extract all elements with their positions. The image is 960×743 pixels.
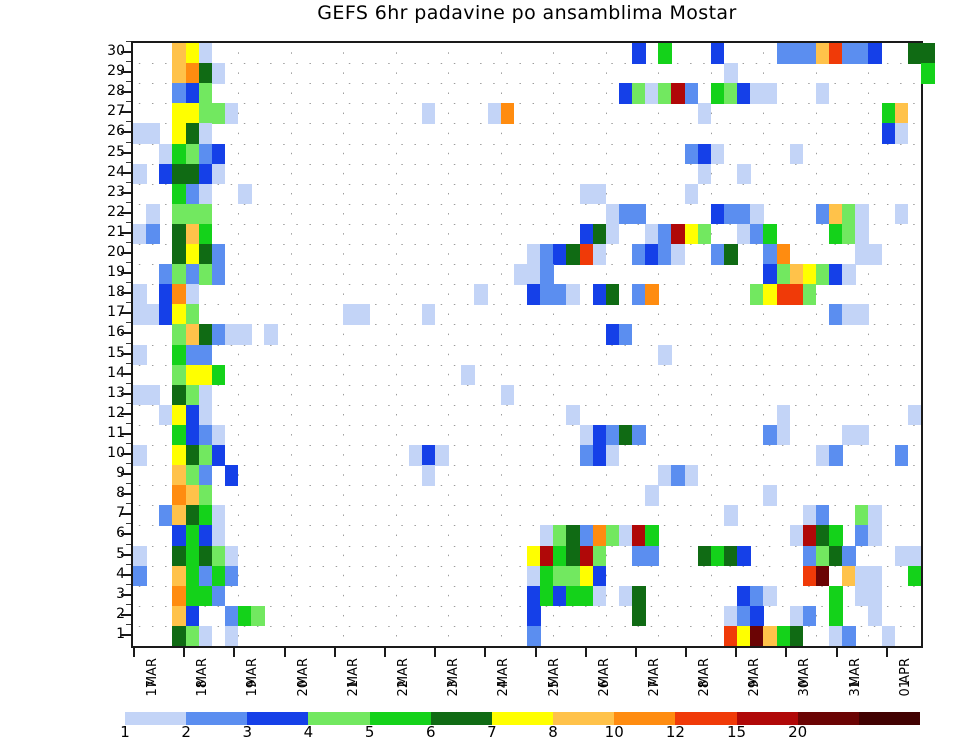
heatmap-cell — [737, 546, 751, 567]
heatmap-cell — [737, 224, 751, 245]
heatmap-cell — [186, 626, 200, 647]
heatmap-cell — [816, 264, 830, 285]
colorbar-tick-label: 2 — [181, 725, 191, 740]
heatmap-cell — [868, 43, 882, 64]
colorbar-tick-label: 3 — [243, 725, 253, 740]
heatmap-cell — [632, 204, 646, 225]
heatmap-cell — [172, 365, 186, 386]
heatmap-cell — [172, 103, 186, 124]
heatmap-cell — [842, 224, 856, 245]
colorbar-tick-label: 6 — [426, 725, 436, 740]
heatmap-cell — [645, 485, 659, 506]
heatmap-cell — [553, 244, 567, 265]
heatmap-cell — [186, 184, 200, 205]
x-axis-ticks — [131, 648, 923, 658]
heatmap-cell — [829, 204, 843, 225]
heatmap-cell — [658, 465, 672, 486]
heatmap-cell — [803, 284, 817, 305]
heatmap-cell — [803, 566, 817, 587]
heatmap-cell — [186, 485, 200, 506]
heatmap-cell — [671, 244, 685, 265]
heatmap-cell — [186, 525, 200, 546]
heatmap-cell — [816, 83, 830, 104]
heatmap-cell — [172, 566, 186, 587]
heatmap-cell — [658, 83, 672, 104]
heatmap-cell — [199, 385, 213, 406]
x-axis-tick-mark — [735, 648, 737, 657]
heatmap-cell — [593, 586, 607, 607]
heatmap-cell — [527, 606, 541, 627]
heatmap-cell — [409, 445, 423, 466]
heatmap-cell — [593, 425, 607, 446]
heatmap-cell — [199, 465, 213, 486]
heatmap-cell — [199, 244, 213, 265]
heatmap-cell — [186, 324, 200, 345]
heatmap-cell — [172, 586, 186, 607]
heatmap-cell — [829, 445, 843, 466]
heatmap-cell — [474, 284, 488, 305]
heatmap-cell — [908, 405, 922, 426]
heatmap-cell — [356, 304, 370, 325]
heatmap-cell — [921, 63, 935, 84]
heatmap-cell — [868, 505, 882, 526]
heatmap-cell — [225, 324, 239, 345]
heatmap-cell — [724, 606, 738, 627]
colorbar-tick-label: 7 — [487, 725, 497, 740]
heatmap-cell — [842, 304, 856, 325]
heatmap-cell — [842, 43, 856, 64]
heatmap-cell — [711, 83, 725, 104]
heatmap-cell — [763, 264, 777, 285]
heatmap-cell — [829, 626, 843, 647]
heatmap-cell — [186, 244, 200, 265]
heatmap-cell — [632, 244, 646, 265]
heatmap-cell — [212, 244, 226, 265]
heatmap-cell — [199, 83, 213, 104]
heatmap-cell — [186, 43, 200, 64]
heatmap-cell — [724, 546, 738, 567]
heatmap-cell — [750, 606, 764, 627]
heatmap-cell — [514, 264, 528, 285]
heatmap-cell — [855, 244, 869, 265]
heatmap-cell — [422, 465, 436, 486]
heatmap-cell — [540, 525, 554, 546]
heatmap-cell — [593, 284, 607, 305]
heatmap-cell — [540, 586, 554, 607]
heatmap-cell — [186, 566, 200, 587]
heatmap-cell — [172, 144, 186, 165]
heatmap-cell — [199, 164, 213, 185]
heatmap-cell — [186, 284, 200, 305]
heatmap-cell — [724, 626, 738, 647]
heatmap-cell — [199, 345, 213, 366]
colorbar-band[interactable] — [308, 712, 369, 725]
heatmap-cell — [737, 164, 751, 185]
heatmap-cell — [199, 324, 213, 345]
heatmap-cell — [461, 365, 475, 386]
heatmap-cell — [186, 224, 200, 245]
heatmap-cell — [750, 83, 764, 104]
heatmap-cell — [172, 626, 186, 647]
colorbar-band[interactable] — [492, 712, 553, 725]
heatmap-cell — [133, 164, 147, 185]
heatmap-cell — [212, 144, 226, 165]
heatmap-cell — [527, 264, 541, 285]
heatmap-cell — [829, 525, 843, 546]
heatmap-cell — [855, 425, 869, 446]
heatmap-cell — [855, 525, 869, 546]
heatmap-cell — [186, 204, 200, 225]
heatmap-cell — [212, 63, 226, 84]
colorbar-band[interactable] — [859, 712, 920, 725]
heatmap-cell — [803, 546, 817, 567]
heatmap-cell — [225, 465, 239, 486]
heatmap-cell — [685, 83, 699, 104]
heatmap-cell — [842, 566, 856, 587]
heatmap-cell — [868, 525, 882, 546]
colorbar-tick-label: 5 — [365, 725, 375, 740]
heatmap-cell — [816, 546, 830, 567]
heatmap-cell — [172, 345, 186, 366]
colorbar-band[interactable] — [431, 712, 492, 725]
heatmap-cell — [199, 365, 213, 386]
heatmap-cell — [540, 264, 554, 285]
heatmap-cell — [632, 586, 646, 607]
x-axis-tick-mark — [384, 648, 386, 657]
heatmap-cell — [172, 244, 186, 265]
heatmap-cell — [619, 525, 633, 546]
heatmap-cell — [251, 606, 265, 627]
heatmap-cell — [724, 63, 738, 84]
heatmap-cell — [711, 144, 725, 165]
heatmap-cell — [566, 546, 580, 567]
heatmap-cell — [895, 123, 909, 144]
heatmap-plot-area[interactable] — [131, 41, 923, 648]
heatmap-cell — [750, 586, 764, 607]
x-axis-tick-mark — [183, 648, 185, 657]
heatmap-cell — [645, 244, 659, 265]
heatmap-cell — [777, 425, 791, 446]
heatmap-cell — [711, 546, 725, 567]
heatmap-cell — [803, 525, 817, 546]
heatmap-cell — [159, 164, 173, 185]
heatmap-cell — [645, 525, 659, 546]
heatmap-cell — [212, 445, 226, 466]
heatmap-cell — [566, 405, 580, 426]
heatmap-cell — [750, 224, 764, 245]
heatmap-cell — [159, 144, 173, 165]
heatmap-cell — [133, 304, 147, 325]
heatmap-cell — [212, 103, 226, 124]
heatmap-cell — [172, 264, 186, 285]
heatmap-cell — [199, 43, 213, 64]
heatmap-cell — [553, 546, 567, 567]
heatmap-cell — [172, 606, 186, 627]
heatmap-cell — [422, 103, 436, 124]
heatmap-cell — [199, 224, 213, 245]
heatmap-cell — [750, 626, 764, 647]
heatmap-cell — [790, 606, 804, 627]
heatmap-cell — [606, 204, 620, 225]
heatmap-cell — [501, 103, 515, 124]
heatmap-cell — [763, 626, 777, 647]
heatmap-cell — [685, 224, 699, 245]
colorbar-band[interactable] — [186, 712, 247, 725]
heatmap-cell — [540, 244, 554, 265]
heatmap-cell — [685, 184, 699, 205]
heatmap-cell — [527, 626, 541, 647]
heatmap-cell — [238, 324, 252, 345]
heatmap-cell — [146, 385, 160, 406]
heatmap-cell — [172, 465, 186, 486]
heatmap-cell — [777, 626, 791, 647]
heatmap-cell — [816, 505, 830, 526]
heatmap-cell — [133, 385, 147, 406]
heatmap-cell — [882, 103, 896, 124]
x-axis-tick-mark — [785, 648, 787, 657]
heatmap-cell — [724, 204, 738, 225]
heatmap-cell — [172, 284, 186, 305]
heatmap-cell — [212, 264, 226, 285]
heatmap-cell — [172, 505, 186, 526]
heatmap-cell — [159, 304, 173, 325]
x-axis-tick-mark — [233, 648, 235, 657]
heatmap-cell — [553, 284, 567, 305]
heatmap-cell — [868, 244, 882, 265]
heatmap-cell — [777, 264, 791, 285]
heatmap-cell — [829, 546, 843, 567]
heatmap-cell — [593, 566, 607, 587]
heatmap-cell — [527, 586, 541, 607]
heatmap-cell — [580, 525, 594, 546]
heatmap-cell — [855, 224, 869, 245]
x-axis-tick-mark — [886, 648, 888, 657]
colorbar-band[interactable] — [370, 712, 431, 725]
heatmap-cell — [882, 626, 896, 647]
heatmap-cell — [199, 445, 213, 466]
heatmap-cell — [606, 284, 620, 305]
colorbar-tick-label: 1 — [120, 725, 130, 740]
heatmap-cell — [435, 445, 449, 466]
colorbar-tick-label: 12 — [666, 725, 685, 740]
heatmap-cell — [527, 284, 541, 305]
heatmap-cell — [842, 546, 856, 567]
colorbar-band[interactable] — [125, 712, 186, 725]
heatmap-cell — [698, 144, 712, 165]
heatmap-cell — [737, 586, 751, 607]
heatmap-cell — [698, 224, 712, 245]
heatmap-cell — [566, 525, 580, 546]
heatmap-cell — [225, 606, 239, 627]
x-axis-tick-mark — [334, 648, 336, 657]
heatmap-cell — [921, 43, 935, 64]
heatmap-cell — [645, 284, 659, 305]
heatmap-cell — [199, 264, 213, 285]
heatmap-cell — [868, 566, 882, 587]
heatmap-cell — [593, 224, 607, 245]
heatmap-cell — [172, 546, 186, 567]
heatmap-cell — [172, 43, 186, 64]
heatmap-cell — [580, 224, 594, 245]
heatmap-cell — [763, 284, 777, 305]
heatmap-cell — [737, 606, 751, 627]
heatmap-cell — [146, 123, 160, 144]
heatmap-cell — [750, 204, 764, 225]
heatmap-cell — [882, 123, 896, 144]
x-axis-tick-mark — [434, 648, 436, 657]
heatmap-cell — [777, 244, 791, 265]
heatmap-cell — [855, 304, 869, 325]
heatmap-cell — [803, 505, 817, 526]
heatmap-cell — [186, 586, 200, 607]
heatmap-cell — [186, 304, 200, 325]
heatmap-cell — [790, 626, 804, 647]
heatmap-cell — [658, 224, 672, 245]
heatmap-cell — [908, 43, 922, 64]
heatmap-cell — [199, 204, 213, 225]
heatmap-cell — [186, 606, 200, 627]
heatmap-cell — [855, 586, 869, 607]
heatmap-cell — [671, 83, 685, 104]
heatmap-cell — [632, 83, 646, 104]
heatmap-cell — [763, 425, 777, 446]
colorbar-tick-label: 10 — [605, 725, 624, 740]
heatmap-cell — [763, 586, 777, 607]
heatmap-cell — [855, 505, 869, 526]
heatmap-cell — [868, 586, 882, 607]
heatmap-cell — [632, 606, 646, 627]
heatmap-cell — [212, 586, 226, 607]
heatmap-cell — [737, 626, 751, 647]
heatmap-cell — [199, 485, 213, 506]
colorbar-tick-label: 15 — [727, 725, 746, 740]
heatmap-cell — [186, 445, 200, 466]
heatmap-cell — [619, 586, 633, 607]
heatmap-cell — [842, 204, 856, 225]
heatmap-cell — [816, 445, 830, 466]
heatmap-cell — [566, 244, 580, 265]
page-title: GEFS 6hr padavine po ansamblima Mostar — [131, 2, 923, 24]
colorbar-tick-label: 8 — [548, 725, 558, 740]
heatmap-cell — [540, 546, 554, 567]
heatmap-cell — [908, 566, 922, 587]
heatmap-cell — [698, 103, 712, 124]
colorbar-band[interactable] — [247, 712, 308, 725]
heatmap-cell — [527, 244, 541, 265]
heatmap-cell — [212, 164, 226, 185]
heatmap-cell — [724, 505, 738, 526]
heatmap-cell — [225, 103, 239, 124]
heatmap-cell — [186, 63, 200, 84]
heatmap-cell — [540, 566, 554, 587]
heatmap-cell — [199, 144, 213, 165]
heatmap-cell — [803, 43, 817, 64]
heatmap-cell — [212, 566, 226, 587]
heatmap-cell — [186, 144, 200, 165]
heatmap-cell — [763, 244, 777, 265]
heatmap-cell — [212, 324, 226, 345]
heatmap-cell — [199, 103, 213, 124]
heatmap-cell — [816, 525, 830, 546]
heatmap-cell — [343, 304, 357, 325]
heatmap-cell — [711, 244, 725, 265]
heatmap-cell — [133, 284, 147, 305]
heatmap-cell — [895, 204, 909, 225]
heatmap-cell — [172, 525, 186, 546]
heatmap-cell — [146, 204, 160, 225]
heatmap-cell — [580, 184, 594, 205]
heatmap-cell — [855, 43, 869, 64]
heatmap-cell — [172, 204, 186, 225]
heatmap-cell — [645, 83, 659, 104]
heatmap-cell — [816, 566, 830, 587]
heatmap-cell — [133, 345, 147, 366]
heatmap-cell — [606, 324, 620, 345]
heatmap-cell — [593, 244, 607, 265]
heatmap-cell — [842, 264, 856, 285]
heatmap-cell — [777, 284, 791, 305]
heatmap-cell — [593, 184, 607, 205]
heatmap-cell — [133, 566, 147, 587]
heatmap-cell — [186, 365, 200, 386]
heatmap-cell — [671, 224, 685, 245]
heatmap-cell — [711, 43, 725, 64]
heatmap-cell — [724, 244, 738, 265]
heatmap-cell — [908, 546, 922, 567]
heatmap-cell — [186, 264, 200, 285]
heatmap-cell — [724, 83, 738, 104]
heatmap-cell — [172, 485, 186, 506]
heatmap-cell — [842, 425, 856, 446]
heatmap-cell — [816, 204, 830, 225]
heatmap-cell — [790, 284, 804, 305]
heatmap-cell — [619, 425, 633, 446]
heatmap-cell — [146, 224, 160, 245]
heatmap-cell — [895, 546, 909, 567]
heatmap-cell — [199, 505, 213, 526]
heatmap-cell — [658, 244, 672, 265]
heatmap-cell — [225, 546, 239, 567]
heatmap-cell — [186, 465, 200, 486]
heatmap-cell — [133, 224, 147, 245]
heatmap-cell — [698, 546, 712, 567]
heatmap-cell — [186, 164, 200, 185]
heatmap-cell — [580, 566, 594, 587]
x-axis-tick-mark — [585, 648, 587, 657]
x-axis-tick-mark — [635, 648, 637, 657]
heatmap-cell — [172, 123, 186, 144]
heatmap-cell — [606, 425, 620, 446]
heatmap-cell — [803, 606, 817, 627]
heatmap-cell — [199, 546, 213, 567]
heatmap-cell — [146, 304, 160, 325]
heatmap-cell — [212, 505, 226, 526]
heatmap-cell — [540, 284, 554, 305]
heatmap-cell — [186, 505, 200, 526]
heatmap-cell — [186, 103, 200, 124]
colorbar-tick-label: 4 — [304, 725, 314, 740]
heatmap-cells — [133, 43, 921, 646]
heatmap-cell — [225, 626, 239, 647]
heatmap-cell — [632, 546, 646, 567]
heatmap-cell — [186, 405, 200, 426]
x-axis-tick-mark — [535, 648, 537, 657]
heatmap-cell — [186, 425, 200, 446]
heatmap-cell — [593, 525, 607, 546]
heatmap-cell — [632, 425, 646, 446]
x-axis-tick-mark — [836, 648, 838, 657]
heatmap-cell — [645, 546, 659, 567]
